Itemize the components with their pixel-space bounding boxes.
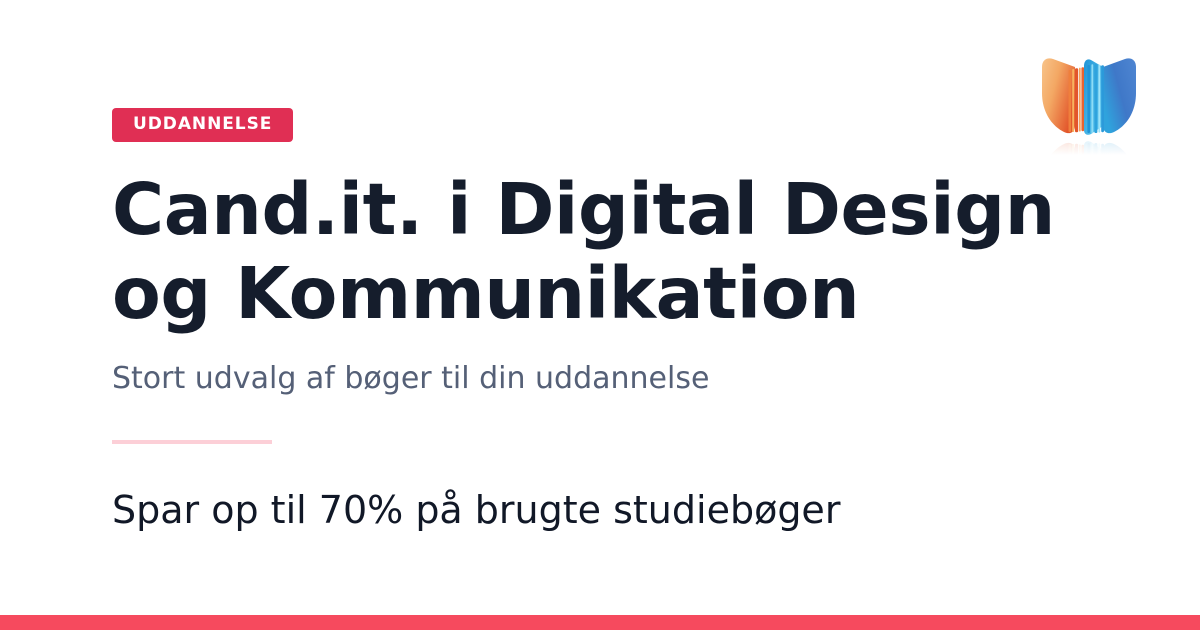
category-badge: UDDANNELSE: [112, 108, 293, 142]
page-title: Cand.it. i Digital Design og Kommunikati…: [112, 168, 1092, 337]
page-subtitle: Stort udvalg af bøger til din uddannelse: [112, 359, 1092, 398]
og-image-card: UDDANNELSE Cand.it. i Digital Design og …: [0, 0, 1200, 630]
promo-text: Spar op til 70% på brugte studiebøger: [112, 486, 1092, 535]
accent-divider: [112, 440, 272, 444]
content-column: UDDANNELSE Cand.it. i Digital Design og …: [112, 108, 1092, 535]
bottom-accent-bar: [0, 615, 1200, 630]
